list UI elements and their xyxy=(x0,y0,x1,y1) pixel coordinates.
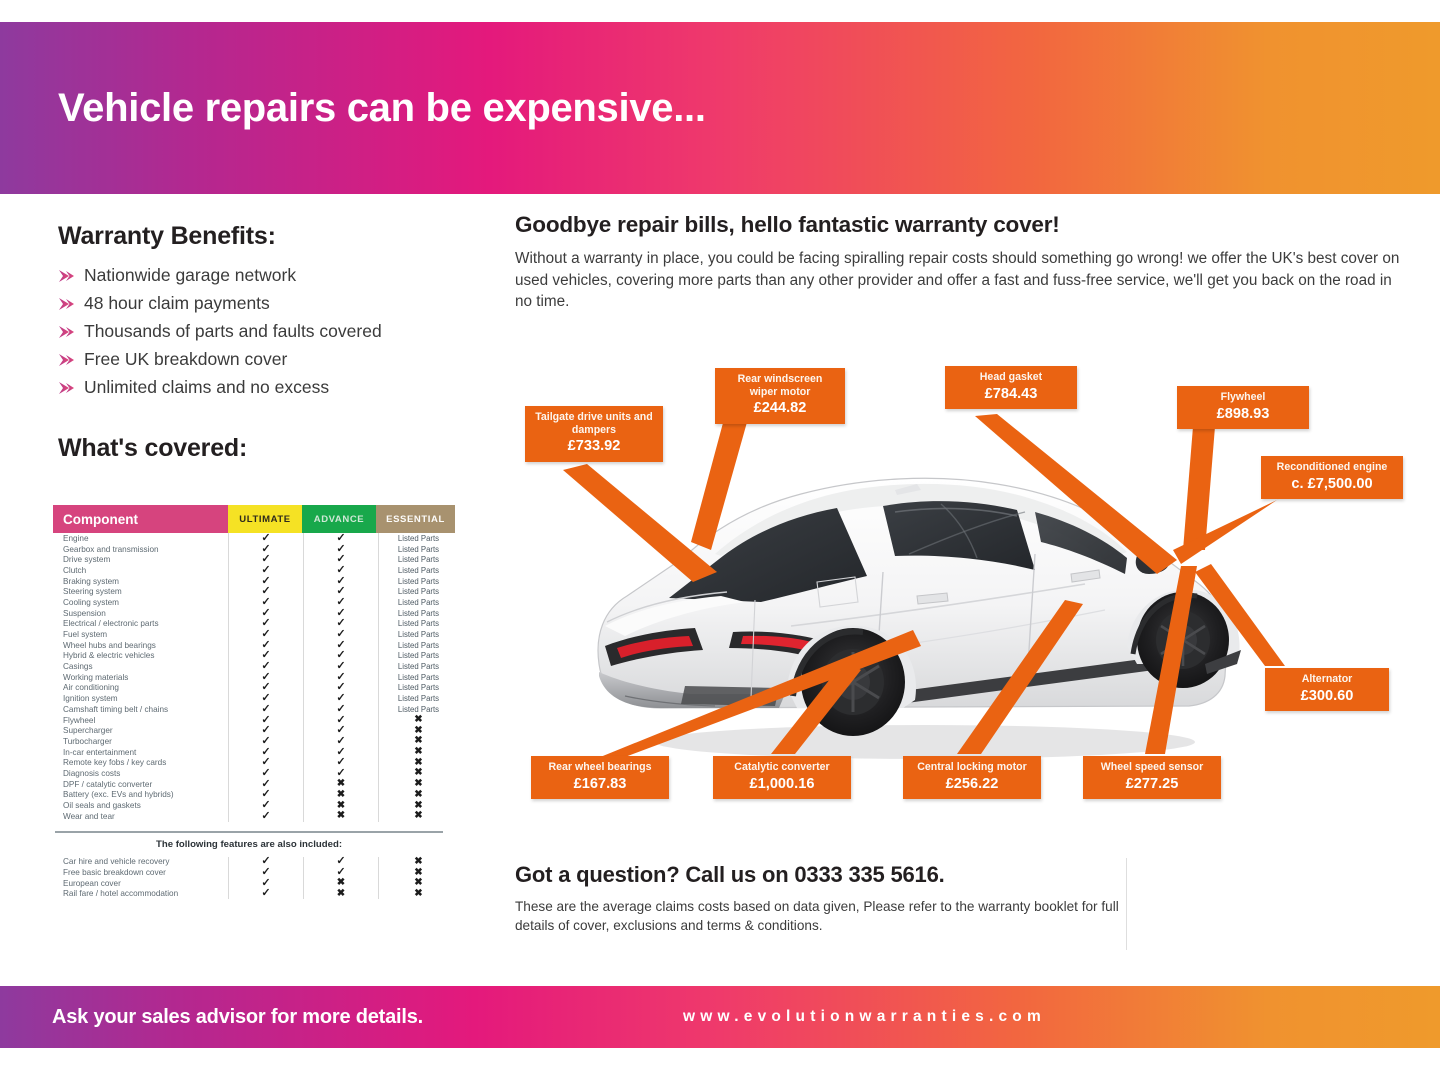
callout-head-gasket[interactable]: Head gasket £784.43 xyxy=(945,366,1077,409)
component-name: Suspension xyxy=(53,608,228,619)
callout-price: £784.43 xyxy=(955,385,1067,404)
column-header-advance: ADVANCE xyxy=(302,505,376,533)
cross-icon: ✖ xyxy=(378,747,458,758)
table-row: European cover✓✖✖ xyxy=(53,878,445,889)
table-row: Working materials✓✓Listed Parts xyxy=(53,672,445,683)
listed-parts-value: Listed Parts xyxy=(378,640,458,651)
table-row: Flywheel✓✓✖ xyxy=(53,715,445,726)
chevron-right-icon xyxy=(58,325,84,339)
listed-parts-value: Listed Parts xyxy=(378,565,458,576)
chevron-right-icon xyxy=(58,381,84,395)
cross-icon: ✖ xyxy=(378,790,458,801)
table-row: DPF / catalytic converter✓✖✖ xyxy=(53,779,445,790)
component-name: Drive system xyxy=(53,554,228,565)
callout-label: Catalytic converter xyxy=(723,761,841,774)
callout-price: £898.93 xyxy=(1187,405,1299,424)
component-name: Oil seals and gaskets xyxy=(53,800,228,811)
footer-bar: Ask your sales advisor for more details.… xyxy=(0,986,1440,1048)
component-name: DPF / catalytic converter xyxy=(53,779,228,790)
chevron-right-icon xyxy=(58,353,84,367)
component-name: European cover xyxy=(53,878,228,889)
callout-label: Alternator xyxy=(1275,673,1379,686)
table-divider xyxy=(55,831,443,833)
table-row: Ignition system✓✓Listed Parts xyxy=(53,693,445,704)
column-header-essential: ESSENTIAL xyxy=(376,505,455,533)
callout-rear-wheel-bearings[interactable]: Rear wheel bearings £167.83 xyxy=(531,756,669,799)
vehicle-diagram: Tailgate drive units and dampers £733.92… xyxy=(505,350,1405,840)
listed-parts-value: Listed Parts xyxy=(378,661,458,672)
column-header-ultimate: ULTIMATE xyxy=(228,505,302,533)
component-name: Casings xyxy=(53,661,228,672)
table-row: Camshaft timing belt / chains✓✓Listed Pa… xyxy=(53,704,445,715)
component-name: Free basic breakdown cover xyxy=(53,867,228,878)
benefit-label: 48 hour claim payments xyxy=(84,293,270,314)
benefit-label: Unlimited claims and no excess xyxy=(84,377,329,398)
also-included-body: Car hire and vehicle recovery✓✓✖Free bas… xyxy=(53,857,445,900)
table-row: Car hire and vehicle recovery✓✓✖ xyxy=(53,857,445,868)
left-column: Warranty Benefits: Nationwide garage net… xyxy=(58,222,458,475)
table-row: Turbocharger✓✓✖ xyxy=(53,736,445,747)
page-title: Vehicle repairs can be expensive... xyxy=(58,86,706,131)
callout-label: Rear windscreen wiper motor xyxy=(725,373,835,398)
callout-price: £733.92 xyxy=(535,437,653,456)
component-name: Diagnosis costs xyxy=(53,768,228,779)
cross-icon: ✖ xyxy=(378,811,458,822)
benefit-label: Thousands of parts and faults covered xyxy=(84,321,382,342)
component-name: Rail fare / hotel accommodation xyxy=(53,889,228,900)
callout-flywheel[interactable]: Flywheel £898.93 xyxy=(1177,386,1309,429)
callout-label: Reconditioned engine xyxy=(1271,461,1393,474)
callout-label: Central locking motor xyxy=(913,761,1031,774)
table-row: Oil seals and gaskets✓✖✖ xyxy=(53,800,445,811)
table-row: Suspension✓✓Listed Parts xyxy=(53,608,445,619)
listed-parts-value: Listed Parts xyxy=(378,672,458,683)
listed-parts-value: Listed Parts xyxy=(378,554,458,565)
cross-icon: ✖ xyxy=(303,811,378,822)
callout-price: £1,000.16 xyxy=(723,775,841,794)
benefit-label: Nationwide garage network xyxy=(84,265,296,286)
table-row: Air conditioning✓✓Listed Parts xyxy=(53,683,445,694)
vertical-divider xyxy=(1126,858,1127,950)
component-name: Clutch xyxy=(53,565,228,576)
table-row: Drive system✓✓Listed Parts xyxy=(53,554,445,565)
whats-covered-title: What's covered: xyxy=(58,434,458,463)
table-row: Steering system✓✓Listed Parts xyxy=(53,586,445,597)
component-name: Ignition system xyxy=(53,693,228,704)
benefits-list: Nationwide garage network48 hour claim p… xyxy=(58,265,458,398)
component-name: Air conditioning xyxy=(53,683,228,694)
listed-parts-value: Listed Parts xyxy=(378,683,458,694)
footer-website[interactable]: www.evolutionwarranties.com xyxy=(683,1008,1046,1026)
listed-parts-value: Listed Parts xyxy=(378,608,458,619)
component-name: Battery (exc. EVs and hybrids) xyxy=(53,790,228,801)
cross-icon: ✖ xyxy=(303,790,378,801)
listed-parts-value: Listed Parts xyxy=(378,693,458,704)
component-name: Steering system xyxy=(53,586,228,597)
table-row: Fuel system✓✓Listed Parts xyxy=(53,629,445,640)
table-row: Engine✓✓Listed Parts xyxy=(53,533,445,544)
listed-parts-value: Listed Parts xyxy=(378,576,458,587)
cross-icon: ✖ xyxy=(303,779,378,790)
benefit-label: Free UK breakdown cover xyxy=(84,349,287,370)
listed-parts-value: Listed Parts xyxy=(378,651,458,662)
contact-block: Got a question? Call us on 0333 335 5616… xyxy=(515,862,1155,936)
component-name: Hybrid & electric vehicles xyxy=(53,651,228,662)
table-row: Wheel hubs and bearings✓✓Listed Parts xyxy=(53,640,445,651)
callout-label: Wheel speed sensor xyxy=(1093,761,1211,774)
listed-parts-value: Listed Parts xyxy=(378,629,458,640)
component-name: Supercharger xyxy=(53,725,228,736)
contact-heading: Got a question? Call us on 0333 335 5616… xyxy=(515,862,1155,888)
intro-body: Without a warranty in place, you could b… xyxy=(515,248,1405,313)
benefit-item: Nationwide garage network xyxy=(58,265,458,286)
callout-label: Flywheel xyxy=(1187,391,1299,404)
component-name: Car hire and vehicle recovery xyxy=(53,857,228,868)
cross-icon: ✖ xyxy=(378,715,458,726)
table-row: Wear and tear✓✖✖ xyxy=(53,811,445,822)
cross-icon: ✖ xyxy=(378,889,458,900)
table-row: Clutch✓✓Listed Parts xyxy=(53,565,445,576)
component-name: Turbocharger xyxy=(53,736,228,747)
table-row: Gearbox and transmission✓✓Listed Parts xyxy=(53,544,445,555)
table-row: Remote key fobs / key cards✓✓✖ xyxy=(53,757,445,768)
table-row: Battery (exc. EVs and hybrids)✓✖✖ xyxy=(53,790,445,801)
component-name: Remote key fobs / key cards xyxy=(53,757,228,768)
callout-price: £244.82 xyxy=(725,399,835,418)
table-row: Electrical / electronic parts✓✓Listed Pa… xyxy=(53,619,445,630)
callout-wheel-speed-sensor[interactable]: Wheel speed sensor £277.25 xyxy=(1083,756,1221,799)
benefit-item: Thousands of parts and faults covered xyxy=(58,321,458,342)
listed-parts-value: Listed Parts xyxy=(378,586,458,597)
listed-parts-value: Listed Parts xyxy=(378,619,458,630)
callout-price: £167.83 xyxy=(541,775,659,794)
benefit-item: Free UK breakdown cover xyxy=(58,349,458,370)
table-row: Diagnosis costs✓✓✖ xyxy=(53,768,445,779)
component-name: Fuel system xyxy=(53,629,228,640)
listed-parts-value: Listed Parts xyxy=(378,597,458,608)
poster-page: Vehicle repairs can be expensive... Warr… xyxy=(0,0,1440,1080)
table-header-row: Component ULTIMATE ADVANCE ESSENTIAL xyxy=(53,505,445,533)
footer-cta: Ask your sales advisor for more details. xyxy=(52,1006,423,1029)
component-name: Wheel hubs and bearings xyxy=(53,640,228,651)
callout-price: £300.60 xyxy=(1275,687,1379,706)
callout-rear-windscreen-wiper-motor[interactable]: Rear windscreen wiper motor £244.82 xyxy=(715,368,845,424)
benefits-title: Warranty Benefits: xyxy=(58,222,458,251)
cross-icon: ✖ xyxy=(378,857,458,868)
cross-icon: ✖ xyxy=(378,779,458,790)
column-header-component: Component xyxy=(53,505,228,533)
intro-block: Goodbye repair bills, hello fantastic wa… xyxy=(515,212,1405,313)
component-name: Electrical / electronic parts xyxy=(53,619,228,630)
table-row: Supercharger✓✓✖ xyxy=(53,725,445,736)
component-name: Cooling system xyxy=(53,597,228,608)
intro-heading: Goodbye repair bills, hello fantastic wa… xyxy=(515,212,1405,238)
top-banner: Vehicle repairs can be expensive... xyxy=(0,22,1440,194)
component-name: In-car entertainment xyxy=(53,747,228,758)
callout-tailgate-drive-units[interactable]: Tailgate drive units and dampers £733.92 xyxy=(525,406,663,462)
chevron-right-icon xyxy=(58,269,84,283)
callout-central-locking-motor[interactable]: Central locking motor £256.22 xyxy=(903,756,1041,799)
component-name: Braking system xyxy=(53,576,228,587)
callout-label: Tailgate drive units and dampers xyxy=(535,411,653,436)
contact-disclaimer: These are the average claims costs based… xyxy=(515,897,1155,936)
callout-reconditioned-engine[interactable]: Reconditioned engine c. £7,500.00 xyxy=(1261,456,1403,499)
callout-alternator[interactable]: Alternator £300.60 xyxy=(1265,668,1389,711)
component-name: Working materials xyxy=(53,672,228,683)
component-name: Wear and tear xyxy=(53,811,228,822)
table-row: Free basic breakdown cover✓✓✖ xyxy=(53,867,445,878)
table-row: Hybrid & electric vehicles✓✓Listed Parts xyxy=(53,651,445,662)
table-row: Casings✓✓Listed Parts xyxy=(53,661,445,672)
callout-label: Rear wheel bearings xyxy=(541,761,659,774)
component-name: Gearbox and transmission xyxy=(53,544,228,555)
listed-parts-value: Listed Parts xyxy=(378,544,458,555)
table-row: In-car entertainment✓✓✖ xyxy=(53,747,445,758)
callout-price: £256.22 xyxy=(913,775,1031,794)
benefit-item: Unlimited claims and no excess xyxy=(58,377,458,398)
callout-label: Head gasket xyxy=(955,371,1067,384)
callout-price: £277.25 xyxy=(1093,775,1211,794)
cross-icon: ✖ xyxy=(303,889,378,900)
table-row: Rail fare / hotel accommodation✓✖✖ xyxy=(53,889,445,900)
tick-icon: ✓ xyxy=(228,889,303,900)
component-name: Camshaft timing belt / chains xyxy=(53,704,228,715)
callout-catalytic-converter[interactable]: Catalytic converter £1,000.16 xyxy=(713,756,851,799)
component-name: Flywheel xyxy=(53,715,228,726)
component-name: Engine xyxy=(53,533,228,544)
table-row: Cooling system✓✓Listed Parts xyxy=(53,597,445,608)
chevron-right-icon xyxy=(58,297,84,311)
tick-icon: ✓ xyxy=(228,811,303,822)
table-row: Braking system✓✓Listed Parts xyxy=(53,576,445,587)
benefit-item: 48 hour claim payments xyxy=(58,293,458,314)
also-included-title: The following features are also included… xyxy=(53,839,445,850)
listed-parts-value: Listed Parts xyxy=(378,533,458,544)
coverage-table: Component ULTIMATE ADVANCE ESSENTIAL Eng… xyxy=(53,505,445,899)
table-body: Engine✓✓Listed PartsGearbox and transmis… xyxy=(53,533,445,822)
callout-price: c. £7,500.00 xyxy=(1271,475,1393,494)
